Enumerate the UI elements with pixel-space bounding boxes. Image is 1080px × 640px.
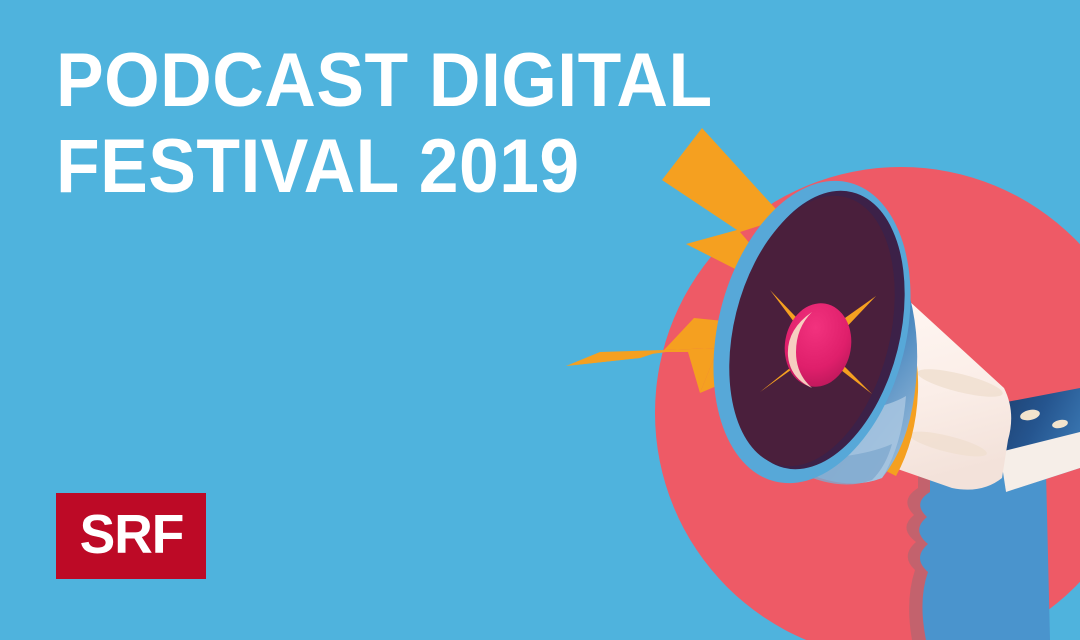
page-title: PODCAST DIGITAL FESTIVAL 2019	[56, 38, 756, 210]
headline-line-2: FESTIVAL 2019	[56, 124, 714, 210]
headline-line-1: PODCAST DIGITAL	[56, 38, 714, 124]
srf-logo: SRF	[56, 493, 206, 579]
background-circle	[655, 167, 1080, 640]
srf-logo-text: SRF	[79, 507, 183, 565]
poster-canvas: PODCAST DIGITAL FESTIVAL 2019 SRF	[0, 0, 1080, 640]
